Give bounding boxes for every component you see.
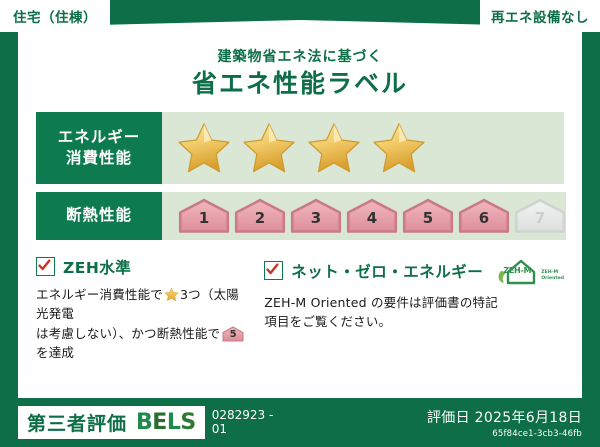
star-rating [176,121,427,175]
page-title: 省エネ性能ラベル [36,70,564,98]
bels-logo-e: E [152,410,167,435]
insulation-level-label: 2 [234,211,286,226]
insulation-level-4: 4 [346,198,398,234]
insulation-scale: 1234567 [178,198,566,234]
zeh-body-pre: エネルギー消費性能で [36,287,163,302]
energy-performance-row: エネルギー 消費性能 [36,112,564,184]
insulation-level-6: 6 [458,198,510,234]
insulation-level-label: 5 [402,211,454,226]
netzero-body-line1: ZEH-M Oriented の要件は評価書の特記 [264,295,498,310]
zeh-checkbox[interactable] [36,257,55,276]
insulation-performance-value: 1234567 [162,192,566,240]
inline-house-level: 5 [222,330,244,340]
star-icon [306,121,362,175]
insulation-level-label: 7 [514,211,566,226]
badge-renewable-energy-text: 再エネ設備なし [491,6,589,26]
check-icon [266,263,279,276]
netzero-body-line2: 項目をご覧ください。 [264,314,391,329]
evaluation-date: 評価日 2025年6月18日 [427,407,582,427]
inline-house-icon: 5 [222,326,244,342]
energy-performance-label: エネルギー 消費性能 [36,112,162,184]
bels-logo-s: S [180,410,195,435]
bels-logo: BELS [136,412,196,434]
inline-star-icon [164,287,179,302]
check-icon [38,259,51,272]
bels-energy-label: 住宅（住棟） 再エネ設備なし 建築物省エネ法に基づく 省エネ性能ラベル エネルギ… [0,0,600,447]
zeh-criteria-header: ZEH水準 [36,256,246,278]
criteria-columns: ZEH水準 エネルギー消費性能で 3つ（太陽光発電 は考慮しない）、かつ断熱性能… [36,256,564,363]
bels-logo-b: B [136,410,152,435]
insulation-level-label: 1 [178,211,230,226]
zeh-criteria-column: ZEH水準 エネルギー消費性能で 3つ（太陽光発電 は考慮しない）、かつ断熱性能… [36,256,246,363]
insulation-level-7: 7 [514,198,566,234]
zeh-body-post: を達成 [36,345,74,360]
netzero-criteria-column: ネット・ゼロ・エネルギー ZEH-M ZEH-M [264,256,564,363]
certificate-number: 0282923 - 01 [212,409,282,437]
netzero-checkbox[interactable] [264,261,283,280]
bels-logo-l: L [167,410,181,435]
third-party-evaluation-label: 第三者評価 [27,409,127,436]
insulation-level-label: 3 [290,211,342,226]
energy-performance-label-line1: エネルギー [58,128,141,146]
zeh-m-logo-subtext-line2: Oriented [541,276,564,281]
zeh-m-logo: ZEH-M ZEH-M Oriented [495,256,564,286]
insulation-performance-row: 断熱性能 1234567 [36,192,564,240]
insulation-level-label: 4 [346,211,398,226]
netzero-criteria-title: ネット・ゼロ・エネルギー [291,260,483,282]
insulation-performance-label: 断熱性能 [36,192,162,240]
footer: 第三者評価 BELS 0282923 - 01 評価日 2025年6月18日 6… [0,398,600,447]
document-hash: 65f84ce1-3cb3-46fb [427,429,582,439]
title-block: 建築物省エネ法に基づく 省エネ性能ラベル [36,20,564,98]
label-panel: 建築物省エネ法に基づく 省エネ性能ラベル エネルギー 消費性能 断熱性能 [18,20,582,398]
star-icon [371,121,427,175]
insulation-level-3: 3 [290,198,342,234]
title-subtitle: 建築物省エネ法に基づく [36,50,564,65]
zeh-m-logo-text: ZEH-M [495,267,539,275]
footer-right: 評価日 2025年6月18日 65f84ce1-3cb3-46fb [427,407,582,439]
netzero-criteria-header: ネット・ゼロ・エネルギー ZEH-M ZEH-M [264,256,564,286]
energy-performance-value [162,112,564,184]
insulation-level-label: 6 [458,211,510,226]
evaluation-date-value: 2025年6月18日 [475,410,582,426]
insulation-level-1: 1 [178,198,230,234]
energy-performance-label-line2: 消費性能 [66,149,132,167]
zeh-criteria-body: エネルギー消費性能で 3つ（太陽光発電 は考慮しない）、かつ断熱性能で [36,285,246,363]
zeh-body-mid: は考慮しない）、かつ断熱性能で [36,326,220,341]
evaluation-date-label: 評価日 [427,410,470,426]
badge-building-type-text: 住宅（住棟） [13,6,97,26]
zeh-m-logo-subtext-line1: ZEH-M [541,270,558,275]
star-icon [176,121,232,175]
zeh-criteria-title: ZEH水準 [63,256,131,278]
insulation-level-2: 2 [234,198,286,234]
netzero-criteria-body: ZEH-M Oriented の要件は評価書の特記 項目をご覧ください。 [264,293,564,332]
zeh-m-logo-subtext: ZEH-M Oriented [541,270,564,285]
label-panel-inner: 建築物省エネ法に基づく 省エネ性能ラベル エネルギー 消費性能 断熱性能 [18,20,582,398]
star-icon [241,121,297,175]
zeh-m-house-icon: ZEH-M [495,256,539,286]
bels-plate: 第三者評価 BELS [18,406,205,439]
insulation-level-5: 5 [402,198,454,234]
